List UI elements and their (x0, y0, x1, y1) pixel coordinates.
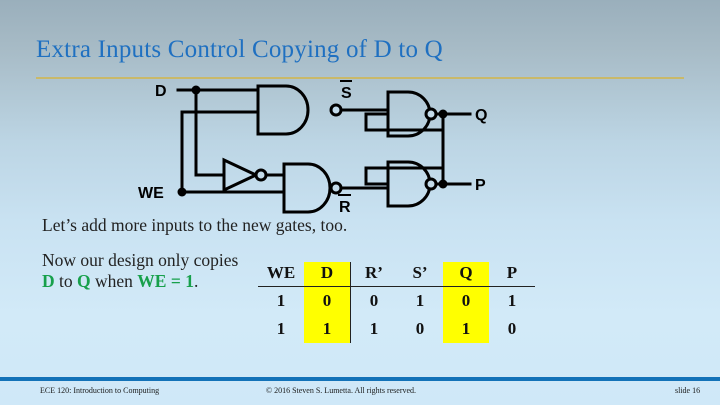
junction-dot-we (178, 188, 187, 197)
cell-we-r1: 1 (258, 315, 304, 343)
cell-rprime-r1: 1 (351, 315, 398, 343)
cell-q-r0: 0 (443, 287, 489, 316)
para2-green-we: WE = 1 (137, 271, 194, 291)
junction-dot-d (192, 86, 201, 95)
footer-course: ECE 120: Introduction to Computing (40, 386, 159, 395)
cell-we-r0: 1 (258, 287, 304, 316)
input-label-we: WE (138, 185, 164, 202)
slide: Extra Inputs Control Copying of D to Q (0, 0, 720, 405)
cell-d-r1: 1 (304, 315, 351, 343)
table-header-row: WE D R’ S’ Q P (258, 262, 535, 287)
cell-p-r0: 1 (489, 287, 535, 316)
circuit-diagram: D WE Q P S R (0, 72, 720, 217)
junction-dot-p (439, 180, 448, 189)
footer-slide-number: slide 16 (675, 386, 700, 395)
nand-bottom-left-bubble (331, 183, 341, 193)
page-title: Extra Inputs Control Copying of D to Q (36, 36, 696, 64)
inverter-body (224, 160, 256, 190)
nand-bottom-right-bubble (426, 179, 436, 189)
truth-table-container: WE D R’ S’ Q P 1 0 0 1 0 1 1 (258, 262, 535, 343)
output-label-p: P (475, 177, 486, 194)
cell-q-r1: 1 (443, 315, 489, 343)
cell-sprime-r0: 1 (397, 287, 443, 316)
para2-green-q: Q (77, 271, 91, 291)
signal-label-sbar: S (341, 85, 352, 102)
cell-sprime-r1: 0 (397, 315, 443, 343)
col-header-q: Q (443, 262, 489, 287)
col-header-d: D (304, 262, 351, 287)
nand-top-left-body (258, 86, 308, 134)
cell-d-r0: 0 (304, 287, 351, 316)
para2-text-2: to (55, 271, 77, 291)
footer-bar (0, 377, 720, 381)
inverter-bubble (256, 170, 266, 180)
table-row: 1 0 0 1 0 1 (258, 287, 535, 316)
col-header-sprime: S’ (397, 262, 443, 287)
nand-top-right-bubble (426, 109, 436, 119)
junction-dot-q (439, 110, 448, 119)
signal-label-rbar: R (339, 199, 351, 216)
cell-rprime-r0: 0 (351, 287, 398, 316)
paragraph-one: Let’s add more inputs to the new gates, … (42, 215, 512, 236)
output-label-q: Q (475, 107, 487, 124)
col-header-we: WE (258, 262, 304, 287)
para2-text-3: when (91, 271, 138, 291)
nand-bottom-left-body (284, 164, 330, 212)
input-label-d: D (155, 83, 167, 100)
col-header-p: P (489, 262, 535, 287)
truth-table: WE D R’ S’ Q P 1 0 0 1 0 1 1 (258, 262, 535, 343)
col-header-rprime: R’ (351, 262, 398, 287)
footer-copyright: © 2016 Steven S. Lumetta. All rights res… (266, 386, 416, 395)
para2-text-4: . (194, 271, 198, 291)
nand-top-left-bubble (331, 105, 341, 115)
para2-green-d: D (42, 271, 55, 291)
paragraph-two: Now our design only copies D to Q when W… (42, 250, 247, 292)
para2-text-1: Now our design only copies (42, 250, 238, 270)
table-row: 1 1 1 0 1 0 (258, 315, 535, 343)
cell-p-r1: 0 (489, 315, 535, 343)
